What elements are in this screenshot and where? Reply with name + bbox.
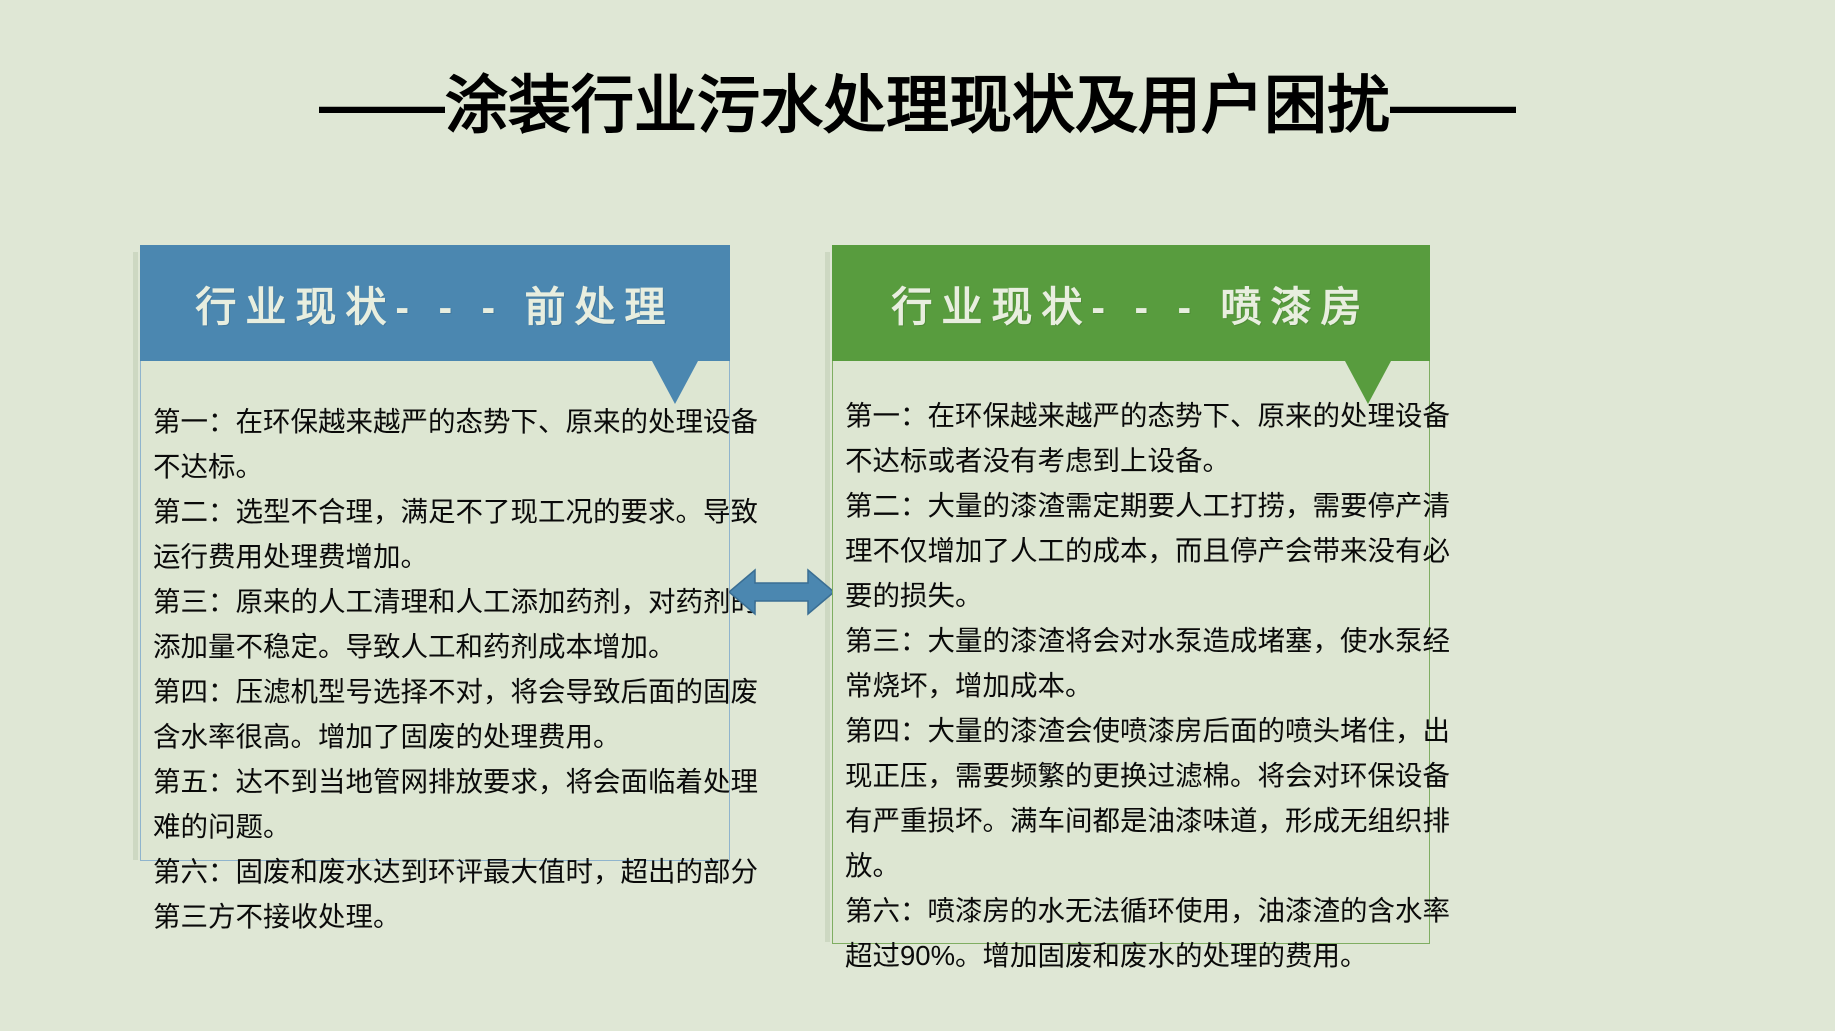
double-headed-arrow-icon [729,566,834,618]
body-line: 超过90%。增加固废和废水的处理的费用。 [845,933,1421,978]
body-line: 有严重损坏。满车间都是油漆味道，形成无组织排 [845,798,1421,843]
panel-spray-booth-header: 行业现状- - - 喷漆房 [832,245,1430,361]
body-line: 第三：大量的漆渣将会对水泵造成堵塞，使水泵经 [845,618,1421,663]
page-title: ——涂装行业污水处理现状及用户困扰—— [0,72,1835,141]
body-line: 第二：大量的漆渣需定期要人工打捞，需要停产清 [845,483,1421,528]
body-line: 第三方不接收处理。 [153,894,721,939]
body-line: 运行费用处理费增加。 [153,534,721,579]
body-line: 含水率很高。增加了固废的处理费用。 [153,714,721,759]
body-line: 不达标。 [153,444,721,489]
body-line: 第五：达不到当地管网排放要求，将会面临着处理 [153,759,721,804]
body-line: 添加量不稳定。导致人工和药剂成本增加。 [153,624,721,669]
panel-spray-booth-header-label: 行业现状- - - 喷漆房 [891,273,1370,333]
body-line: 要的损失。 [845,573,1421,618]
panel-left-edge-shadow [133,252,138,860]
panel-pretreatment-body: 第一：在环保越来越严的态势下、原来的处理设备 不达标。 第二：选型不合理，满足不… [140,361,730,861]
speech-bubble-tail-icon [1345,361,1391,404]
body-line: 不达标或者没有考虑到上设备。 [845,438,1421,483]
body-line: 放。 [845,843,1421,888]
panel-spray-booth: 行业现状- - - 喷漆房 第一：在环保越来越严的态势下、原来的处理设备 不达标… [832,245,1430,944]
body-line: 第四：大量的漆渣会使喷漆房后面的喷头堵住，出 [845,708,1421,753]
body-line: 常烧坏，增加成本。 [845,663,1421,708]
body-line: 现正压，需要频繁的更换过滤棉。将会对环保设备 [845,753,1421,798]
body-line: 难的问题。 [153,804,721,849]
panel-spray-booth-body: 第一：在环保越来越严的态势下、原来的处理设备 不达标或者没有考虑到上设备。 第二… [832,361,1430,944]
body-line: 第三：原来的人工清理和人工添加药剂，对药剂的 [153,579,721,624]
panel-pretreatment: 行业现状- - - 前处理 第一：在环保越来越严的态势下、原来的处理设备 不达标… [140,245,730,861]
panel-pretreatment-header: 行业现状- - - 前处理 [140,245,730,361]
body-line: 第六：固废和废水达到环评最大值时，超出的部分 [153,849,721,894]
body-line: 理不仅增加了人工的成本，而且停产会带来没有必 [845,528,1421,573]
panel-pretreatment-header-label: 行业现状- - - 前处理 [195,273,674,333]
speech-bubble-tail-icon [652,361,698,404]
body-line: 第二：选型不合理，满足不了现工况的要求。导致 [153,489,721,534]
body-line: 第一：在环保越来越严的态势下、原来的处理设备 [153,399,721,444]
body-line: 第四：压滤机型号选择不对，将会导致后面的固废 [153,669,721,714]
body-line: 第六：喷漆房的水无法循环使用，油漆渣的含水率 [845,888,1421,933]
body-line: 第一：在环保越来越严的态势下、原来的处理设备 [845,393,1421,438]
